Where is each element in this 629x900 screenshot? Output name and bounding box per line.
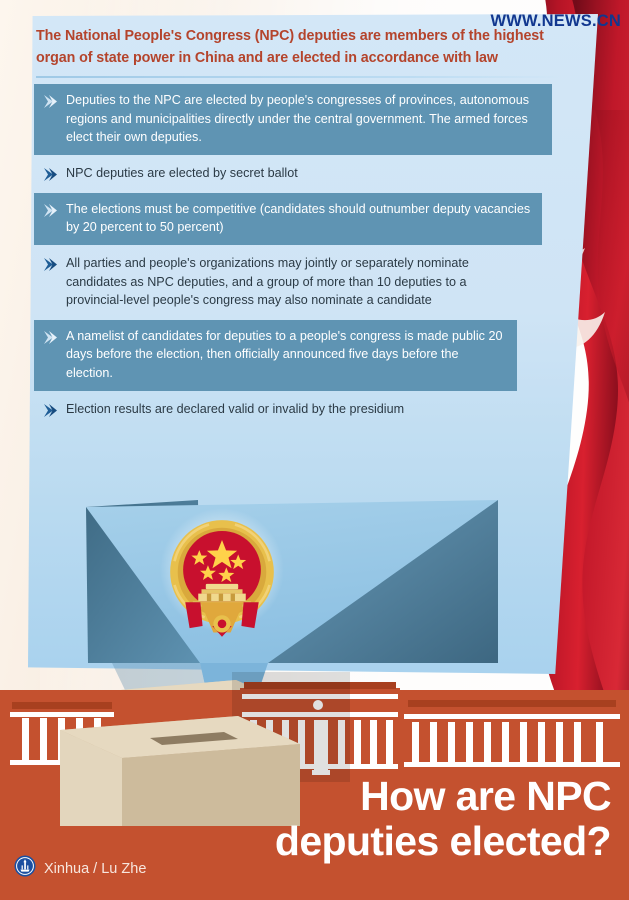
list-item: Deputies to the NPC are elected by peopl…	[34, 84, 552, 155]
credit: Xinhua / Lu Zhe	[14, 855, 146, 882]
page-title-line-1: The National People's Congress (NPC) dep…	[36, 25, 581, 47]
list-item-text: Deputies to the NPC are elected by peopl…	[66, 91, 542, 147]
chevron-right-icon	[42, 202, 59, 219]
headline-line-2: deputies elected?	[275, 819, 611, 864]
bullet-list: Deputies to the NPC are elected by peopl…	[34, 84, 594, 429]
list-item-text: The elections must be competitive (candi…	[66, 200, 532, 237]
list-item-text: Election results are declared valid or i…	[66, 400, 404, 419]
list-item: All parties and people's organizations m…	[34, 247, 527, 318]
list-item: Election results are declared valid or i…	[34, 393, 512, 427]
chevron-right-icon	[42, 402, 59, 419]
infographic-root: WWW.NEWS.CN The National People's Congre…	[0, 0, 629, 900]
header-divider	[36, 76, 564, 78]
list-item: NPC deputies are elected by secret ballo…	[34, 157, 382, 191]
page-title-line-2: organ of state power in China and are el…	[36, 47, 581, 69]
list-item-text: A namelist of candidates for deputies to…	[66, 327, 507, 383]
chevron-right-icon	[42, 256, 59, 273]
list-item: The elections must be competitive (candi…	[34, 193, 542, 245]
list-item-text: All parties and people's organizations m…	[66, 254, 517, 310]
list-item-text: NPC deputies are elected by secret ballo…	[66, 164, 298, 183]
headline: How are NPC deputies elected?	[275, 774, 611, 864]
list-item: A namelist of candidates for deputies to…	[34, 320, 517, 391]
page-title: The National People's Congress (NPC) dep…	[36, 25, 581, 69]
xinhua-logo	[14, 855, 36, 882]
chevron-right-icon	[42, 93, 59, 110]
headline-line-1: How are NPC	[275, 774, 611, 819]
chevron-right-icon	[42, 329, 59, 346]
credit-text: Xinhua / Lu Zhe	[44, 861, 146, 877]
chevron-right-icon	[42, 166, 59, 183]
